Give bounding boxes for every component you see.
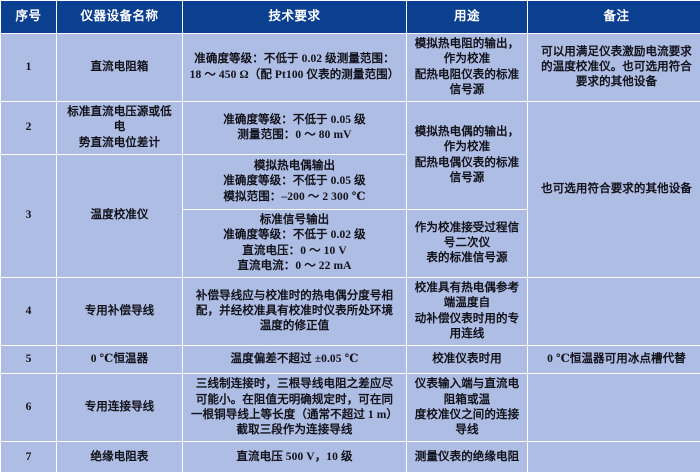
cell-index: 4: [1, 278, 56, 345]
equipment-specification-table: 序号 仪器设备名称 技术要求 用途 备注 1 直流电阻箱 准确度等级：不低于 0…: [0, 0, 700, 473]
cell-tech: 标准信号输出 准确度等级：不低于 0.02 级 直流电压：0 ～ 10 V 直流…: [183, 210, 406, 277]
cell-index: 5: [1, 346, 56, 373]
column-header-index: 序号: [1, 1, 56, 33]
cell-use: 模拟热电阻的输出，作为校准 配热电阻仪表的标准信号源: [407, 34, 527, 101]
cell-use: 仪表输入端与直流电阻箱或温 度校准仪之间的连接导线: [407, 374, 527, 441]
cell-name: 0 ℃恒温器: [57, 346, 182, 373]
cell-use: 测量仪表的绝缘电阻: [407, 442, 527, 472]
cell-name: 直流电阻箱: [57, 34, 182, 101]
cell-index: 7: [1, 442, 56, 472]
table-row: 6 专用连接导线 三线制连接时，三根导线电阻之差应尽 可能小。在阻值无明确规定时…: [1, 374, 700, 441]
table-body: 1 直流电阻箱 准确度等级：不低于 0.02 级测量范围： 18 ～ 450 Ω…: [1, 34, 700, 472]
table-row: 2 标准直流电压源或低电 势直流电位差计 准确度等级：不低于 0.05 级 测量…: [1, 102, 700, 154]
cell-tech: 准确度等级：不低于 0.05 级 测量范围：0 ～ 80 mV: [183, 102, 406, 154]
column-header-note: 备注: [528, 1, 700, 33]
cell-index: 1: [1, 34, 56, 101]
column-header-use: 用途: [407, 1, 527, 33]
cell-use: 校准仪表时用: [407, 346, 527, 373]
table-row: 4 专用补偿导线 补偿导线应与校准时的热电偶分度号相 配，并经校准具有校准时仪表…: [1, 278, 700, 345]
cell-index: 3: [1, 155, 56, 277]
table-row: 7 绝缘电阻表 直流电压 500 V，10 级 测量仪表的绝缘电阻: [1, 442, 700, 472]
cell-use: 校准具有热电偶参考端温度自 动补偿仪表时用的专用连线: [407, 278, 527, 345]
table-row: 1 直流电阻箱 准确度等级：不低于 0.02 级测量范围： 18 ～ 450 Ω…: [1, 34, 700, 101]
cell-tech: 直流电压 500 V，10 级: [183, 442, 406, 472]
cell-use: 作为校准接受过程信号二次仪 表的标准信号源: [407, 210, 527, 277]
cell-note: [528, 442, 700, 472]
cell-tech: 准确度等级：不低于 0.02 级测量范围： 18 ～ 450 Ω（配 Pt100…: [183, 34, 406, 101]
cell-tech: 温度偏差不超过 ±0.05 ℃: [183, 346, 406, 373]
cell-name: 标准直流电压源或低电 势直流电位差计: [57, 102, 182, 154]
table-header: 序号 仪器设备名称 技术要求 用途 备注: [1, 1, 700, 33]
table-row: 5 0 ℃恒温器 温度偏差不超过 ±0.05 ℃ 校准仪表时用 0 ℃恒温器可用…: [1, 346, 700, 373]
cell-tech: 补偿导线应与校准时的热电偶分度号相 配，并经校准具有校准时仪表所处环境 温度的修…: [183, 278, 406, 345]
column-header-tech: 技术要求: [183, 1, 406, 33]
cell-name: 专用连接导线: [57, 374, 182, 441]
cell-note: [528, 278, 700, 345]
table-header-row: 序号 仪器设备名称 技术要求 用途 备注: [1, 1, 700, 33]
cell-tech: 模拟热电偶输出 准确度等级：不低于 0.05 级 模拟范围：–200 ～ 2 3…: [183, 155, 406, 209]
cell-index: 6: [1, 374, 56, 441]
cell-name: 专用补偿导线: [57, 278, 182, 345]
cell-name: 温度校准仪: [57, 155, 182, 277]
cell-tech: 三线制连接时，三根导线电阻之差应尽 可能小。在阻值无明确规定时，可在同 一根铜导…: [183, 374, 406, 441]
cell-note: 0 ℃恒温器可用冰点槽代替: [528, 346, 700, 373]
column-header-name: 仪器设备名称: [57, 1, 182, 33]
cell-note: 也可选用符合要求的其他设备: [528, 102, 700, 277]
cell-index: 2: [1, 102, 56, 154]
cell-note: 可以用满足仪表激励电流要求 的温度校准仪。也可选用符合 要求的其他设备: [528, 34, 700, 101]
cell-note: [528, 374, 700, 441]
cell-name: 绝缘电阻表: [57, 442, 182, 472]
cell-use: 模拟热电偶的输出，作为校准 配热电偶仪表的标准信号源: [407, 102, 527, 209]
